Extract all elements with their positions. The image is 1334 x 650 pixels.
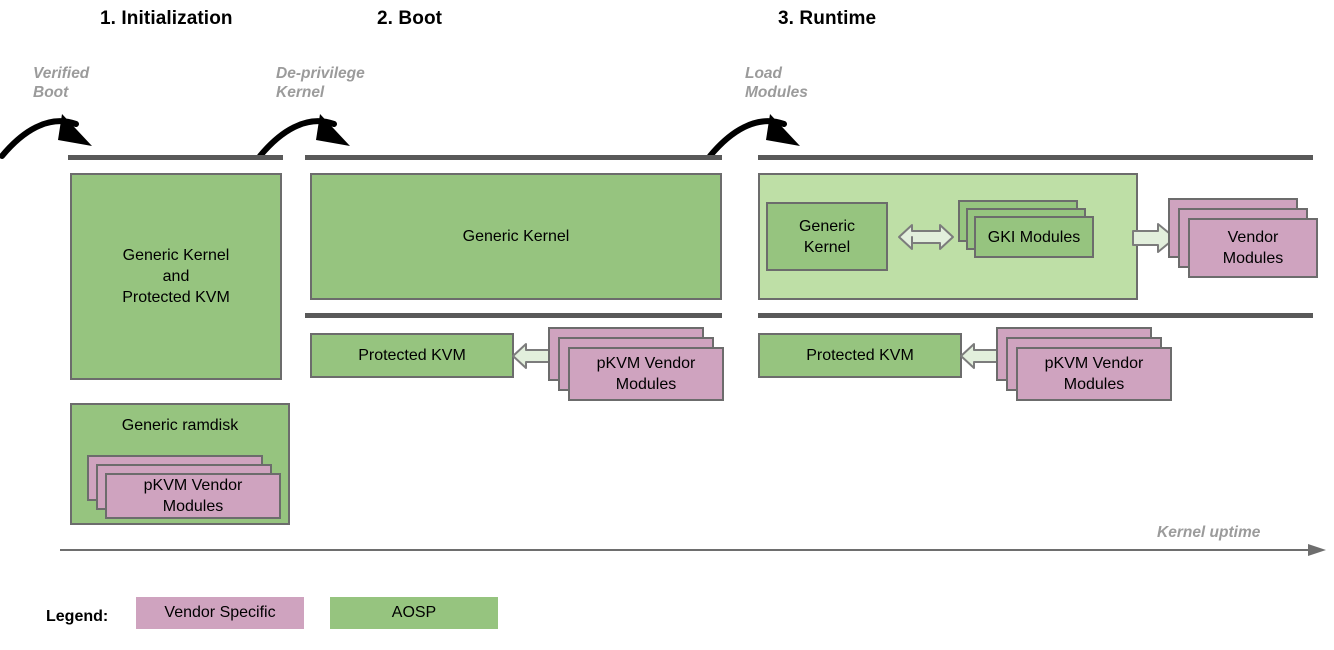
phase3-protected-kvm-label: Protected KVM [806,345,914,366]
phase-title-runtime: 3. Runtime [778,8,876,30]
curved-arrow-verified-boot [0,108,110,158]
phase-title-boot: 2. Boot [377,8,442,30]
phase-rule-initialization [68,155,283,160]
legend-title: Legend: [46,608,108,626]
phase3-gki-modules-label: GKI Modules [988,227,1080,248]
phase3-vendor-modules-label: Vendor Modules [1223,227,1283,269]
phase3-kernel-gki-bidirectional-arrow-icon [898,219,954,255]
curved-arrow-load-modules [708,108,818,158]
phase3-generic-kernel-label: Generic Kernel [799,216,855,258]
phase3-divider-rule [758,313,1313,318]
stack-card-front: pKVM Vendor Modules [1016,347,1172,401]
phase1-pkvm-vendor-modules-stack: pKVM Vendor Modules [87,455,279,517]
stack-card-front: pKVM Vendor Modules [568,347,724,401]
phase2-generic-kernel-label: Generic Kernel [463,226,570,247]
transition-label-verified-boot: Verified Boot [33,64,89,102]
phase-rule-boot [305,155,722,160]
stack-card-front: Vendor Modules [1188,218,1318,278]
transition-label-de-privilege-kernel: De-privilege Kernel [276,64,365,102]
phase2-pkvm-vendor-modules-label: pKVM Vendor Modules [597,353,696,395]
legend-swatch-vendor-specific: Vendor Specific [136,597,304,629]
phase-rule-runtime [758,155,1313,160]
phase3-gki-modules-stack: GKI Modules [958,200,1094,274]
phase3-protected-kvm-box: Protected KVM [758,333,962,378]
stack-card-front: GKI Modules [974,216,1094,258]
phase3-pkvm-vendor-modules-label: pKVM Vendor Modules [1045,353,1144,395]
phase2-pkvm-vendor-modules-stack: pKVM Vendor Modules [548,327,734,405]
transition-label-load-modules: Load Modules [745,64,808,102]
phase2-divider-rule [305,313,722,318]
phase-title-initialization: 1. Initialization [100,8,233,30]
phase3-generic-kernel-box: Generic Kernel [766,202,888,271]
legend-label-vendor-specific: Vendor Specific [164,604,275,622]
phase1-generic-ramdisk-label: Generic ramdisk [122,415,238,436]
phase2-generic-kernel-box: Generic Kernel [310,173,722,300]
phase2-protected-kvm-box: Protected KVM [310,333,514,378]
kernel-uptime-axis-arrow [60,540,1328,560]
phase1-generic-kernel-and-pkvm-label: Generic Kernel and Protected KVM [122,245,230,308]
curved-arrow-de-privilege-kernel [258,108,368,158]
stack-card-front: pKVM Vendor Modules [105,473,281,519]
phase1-pkvm-vendor-modules-label: pKVM Vendor Modules [144,475,243,517]
phase3-pkvm-vendor-modules-stack: pKVM Vendor Modules [996,327,1182,405]
legend-label-aosp: AOSP [392,604,436,622]
phase1-generic-kernel-and-pkvm-box: Generic Kernel and Protected KVM [70,173,282,380]
legend-swatch-aosp: AOSP [330,597,498,629]
phase2-protected-kvm-label: Protected KVM [358,345,466,366]
phase3-vendor-modules-stack: Vendor Modules [1168,198,1334,282]
